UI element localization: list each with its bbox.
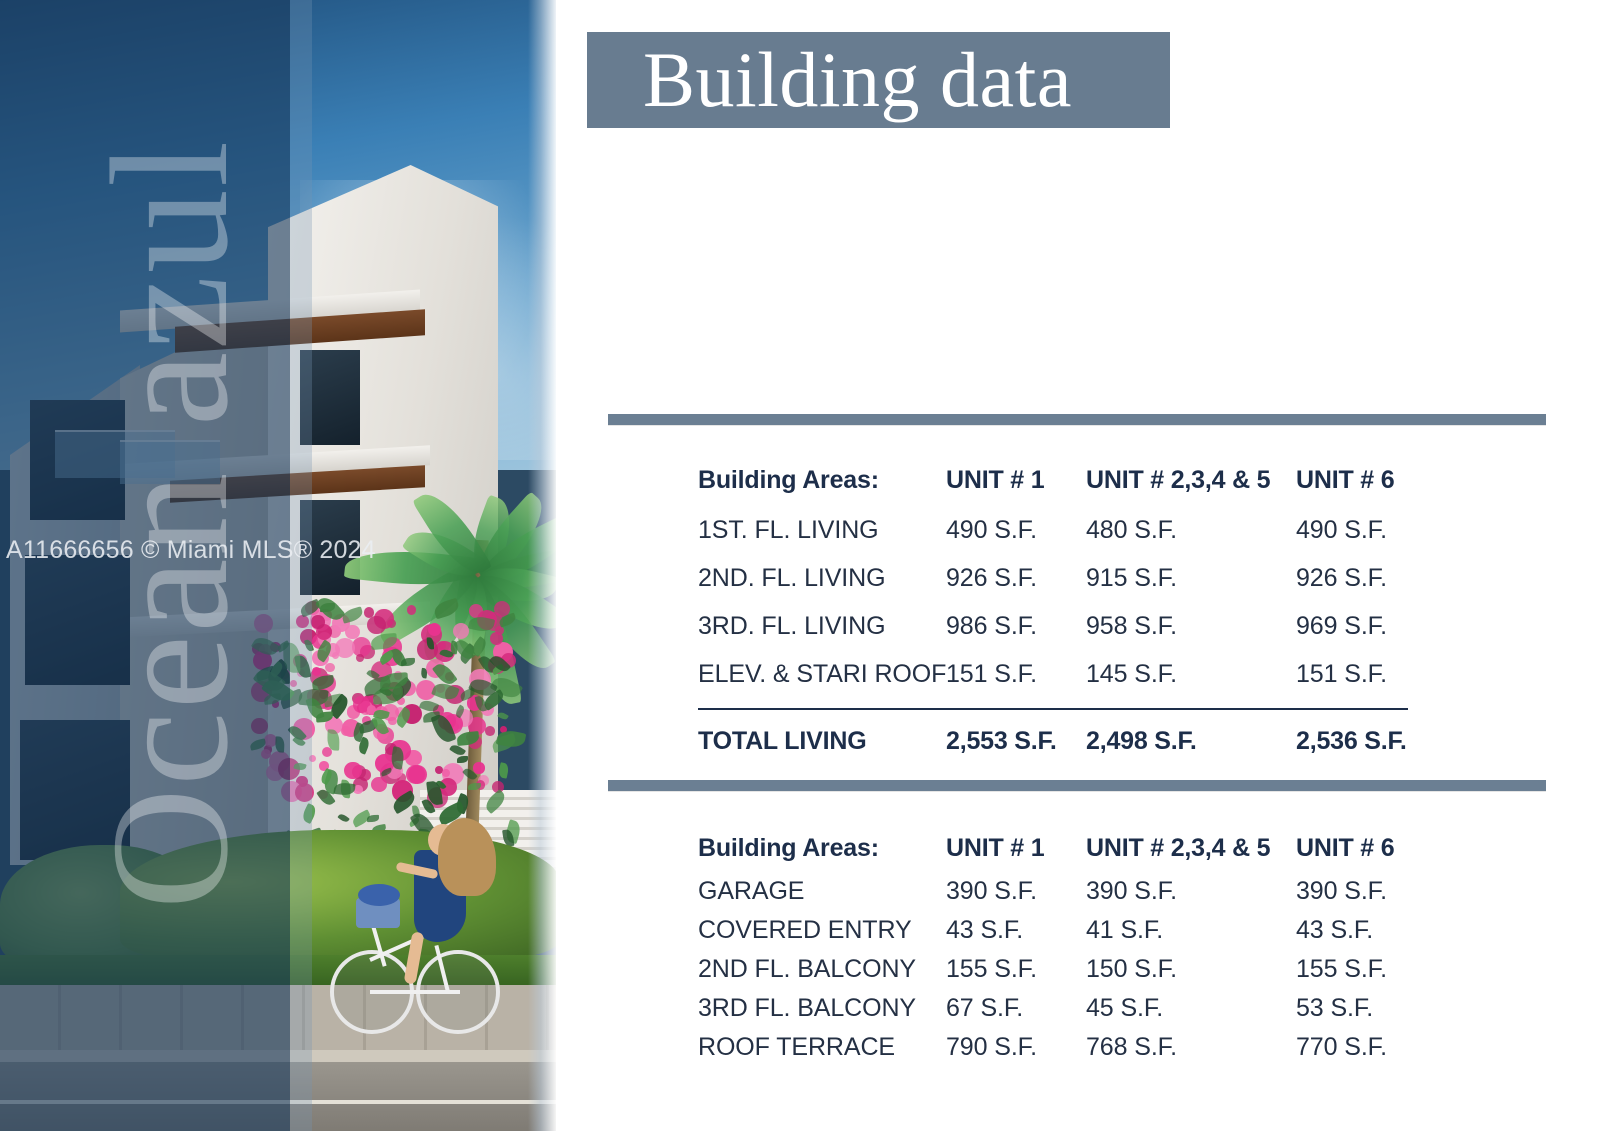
- page-title-banner: Building data: [587, 32, 1170, 128]
- flower-blossom: [485, 726, 495, 736]
- page-title: Building data: [587, 41, 1072, 119]
- table-body: GARAGE 390 S.F. 390 S.F. 390 S.F. COVERE…: [698, 877, 1558, 1062]
- total-label: TOTAL LIVING: [698, 727, 946, 756]
- photo-right-edge-fade: [528, 0, 556, 1131]
- flower-blossom: [345, 625, 359, 639]
- presentation-slide: Ocean azul A11666656 © Miami MLS® 2024 B…: [0, 0, 1600, 1131]
- table-row: ROOF TERRACE 790 S.F. 768 S.F. 770 S.F.: [698, 1033, 1558, 1062]
- column-header-unit-1: UNIT # 1: [946, 834, 1086, 863]
- section-divider-middle: [608, 780, 1546, 791]
- total-value-unit-2345: 2,498 S.F.: [1086, 727, 1296, 756]
- total-value-unit-6: 2,536 S.F.: [1296, 727, 1476, 756]
- table-row: 1ST. FL. LIVING 490 S.F. 480 S.F. 490 S.…: [698, 516, 1558, 545]
- flower-blossom: [356, 654, 364, 662]
- row-value-unit-1: 67 S.F.: [946, 994, 1086, 1023]
- row-value-unit-2345: 915 S.F.: [1086, 564, 1296, 593]
- row-value-unit-6: 53 S.F.: [1296, 994, 1476, 1023]
- row-value-unit-6: 43 S.F.: [1296, 916, 1476, 945]
- foliage-leaf: [333, 782, 355, 796]
- column-header-unit-2345: UNIT # 2,3,4 & 5: [1086, 834, 1296, 863]
- flower-blossom: [453, 623, 469, 639]
- row-value-unit-1: 490 S.F.: [946, 516, 1086, 545]
- row-value-unit-1: 926 S.F.: [946, 564, 1086, 593]
- table-header-row: Building Areas: UNIT # 1 UNIT # 2,3,4 & …: [698, 834, 1558, 863]
- column-header-label: Building Areas:: [698, 466, 946, 495]
- row-value-unit-2345: 768 S.F.: [1086, 1033, 1296, 1062]
- table-total-row: TOTAL LIVING 2,553 S.F. 2,498 S.F. 2,536…: [698, 727, 1558, 756]
- flower-blossom: [407, 605, 416, 614]
- row-label: GARAGE: [698, 877, 946, 906]
- row-label: COVERED ENTRY: [698, 916, 946, 945]
- property-photo-panel: Ocean azul A11666656 © Miami MLS® 2024: [0, 0, 556, 1131]
- row-value-unit-2345: 958 S.F.: [1086, 612, 1296, 641]
- row-value-unit-1: 151 S.F.: [946, 660, 1086, 689]
- row-value-unit-6: 490 S.F.: [1296, 516, 1476, 545]
- column-header-unit-2345: UNIT # 2,3,4 & 5: [1086, 466, 1296, 495]
- row-label: ELEV. & STARI ROOF: [698, 660, 946, 689]
- foliage-leaf: [497, 711, 509, 721]
- row-value-unit-6: 770 S.F.: [1296, 1033, 1476, 1062]
- row-value-unit-2345: 145 S.F.: [1086, 660, 1296, 689]
- row-value-unit-6: 155 S.F.: [1296, 955, 1476, 984]
- table-row: 2ND FL. BALCONY 155 S.F. 150 S.F. 155 S.…: [698, 955, 1558, 984]
- brand-color-overlay: [0, 0, 290, 1131]
- flower-blossom: [311, 615, 324, 628]
- brand-overlay-soft-band: [290, 0, 312, 1131]
- flower-blossom: [371, 777, 386, 792]
- flower-blossom: [473, 762, 484, 773]
- row-value-unit-1: 43 S.F.: [946, 916, 1086, 945]
- table-row: COVERED ENTRY 43 S.F. 41 S.F. 43 S.F.: [698, 916, 1558, 945]
- row-label: 2ND FL. BALCONY: [698, 955, 946, 984]
- row-value-unit-2345: 41 S.F.: [1086, 916, 1296, 945]
- row-value-unit-1: 390 S.F.: [946, 877, 1086, 906]
- cyclist-hair: [438, 818, 496, 896]
- column-header-unit-6: UNIT # 6: [1296, 834, 1476, 863]
- foliage-leaf: [420, 668, 428, 679]
- table-header-row: Building Areas: UNIT # 1 UNIT # 2,3,4 & …: [698, 466, 1558, 495]
- foliage-leaf: [341, 606, 365, 624]
- table-row: GARAGE 390 S.F. 390 S.F. 390 S.F.: [698, 877, 1558, 906]
- row-value-unit-1: 790 S.F.: [946, 1033, 1086, 1062]
- table-row: ELEV. & STARI ROOF 151 S.F. 145 S.F. 151…: [698, 660, 1558, 689]
- row-label: 2ND. FL. LIVING: [698, 564, 946, 593]
- row-value-unit-6: 390 S.F.: [1296, 877, 1476, 906]
- row-label: 1ST. FL. LIVING: [698, 516, 946, 545]
- mls-watermark: A11666656 © Miami MLS® 2024: [6, 536, 376, 565]
- row-value-unit-6: 151 S.F.: [1296, 660, 1476, 689]
- flower-blossom: [367, 616, 386, 635]
- foliage-leaf: [432, 597, 461, 618]
- row-value-unit-2345: 390 S.F.: [1086, 877, 1296, 906]
- foliage-leaf: [401, 658, 415, 666]
- row-label: ROOF TERRACE: [698, 1033, 946, 1062]
- section-divider-top: [608, 414, 1546, 425]
- total-separator-rule: [698, 708, 1408, 710]
- basket-flowers: [358, 884, 400, 906]
- table-body: 1ST. FL. LIVING 490 S.F. 480 S.F. 490 S.…: [698, 516, 1558, 689]
- flower-blossom: [325, 663, 335, 673]
- foliage-leaf: [457, 756, 468, 763]
- row-value-unit-2345: 480 S.F.: [1086, 516, 1296, 545]
- row-value-unit-6: 969 S.F.: [1296, 612, 1476, 641]
- flower-blossom: [490, 632, 503, 645]
- row-value-unit-1: 155 S.F.: [946, 955, 1086, 984]
- column-header-unit-1: UNIT # 1: [946, 466, 1086, 495]
- content-area: Building data Building Areas: UNIT # 1 U…: [556, 0, 1600, 1131]
- row-value-unit-2345: 150 S.F.: [1086, 955, 1296, 984]
- row-value-unit-2345: 45 S.F.: [1086, 994, 1296, 1023]
- other-areas-table: Building Areas: UNIT # 1 UNIT # 2,3,4 & …: [698, 834, 1558, 1072]
- table-row: 2ND. FL. LIVING 926 S.F. 915 S.F. 926 S.…: [698, 564, 1558, 593]
- flower-blossom: [344, 762, 361, 779]
- table-row: 3RD FL. BALCONY 67 S.F. 45 S.F. 53 S.F.: [698, 994, 1558, 1023]
- row-label: 3RD FL. BALCONY: [698, 994, 946, 1023]
- cyclist-figure: [330, 800, 510, 1050]
- column-header-unit-6: UNIT # 6: [1296, 466, 1476, 495]
- table-row: 3RD. FL. LIVING 986 S.F. 958 S.F. 969 S.…: [698, 612, 1558, 641]
- column-header-label: Building Areas:: [698, 834, 946, 863]
- row-value-unit-6: 926 S.F.: [1296, 564, 1476, 593]
- foliage-leaf: [498, 762, 510, 779]
- living-areas-table: Building Areas: UNIT # 1 UNIT # 2,3,4 & …: [698, 466, 1558, 756]
- row-label: 3RD. FL. LIVING: [698, 612, 946, 641]
- total-value-unit-1: 2,553 S.F.: [946, 727, 1086, 756]
- row-value-unit-1: 986 S.F.: [946, 612, 1086, 641]
